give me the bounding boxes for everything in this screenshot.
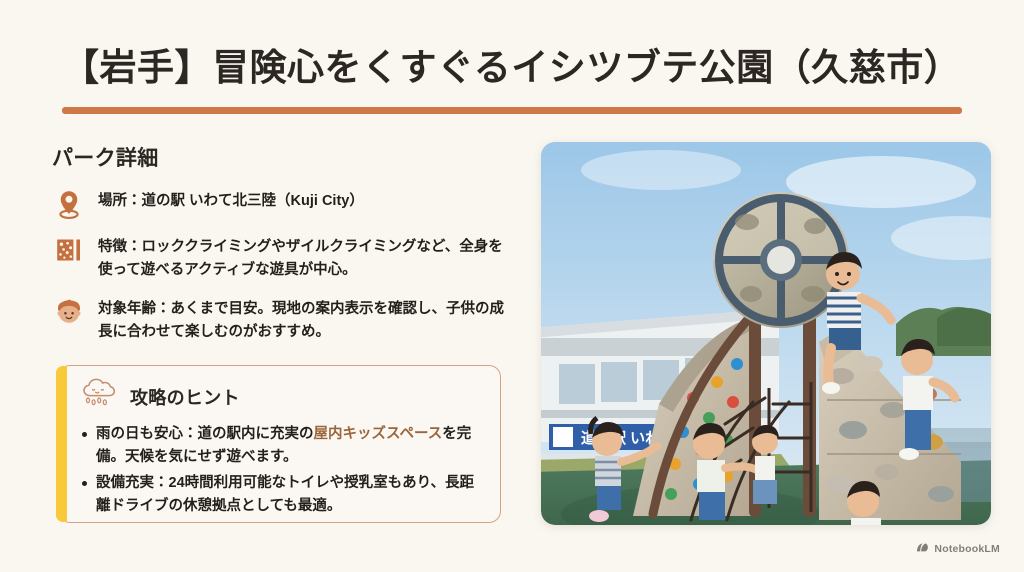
hint-list-item: 設備充実：24時間利用可能なトイレや授乳室もあり、長距離ドライブの休憩拠点として… [78,472,488,519]
section-heading-park-details: パーク詳細 [52,142,507,172]
hint-item-prefix: 雨の日も安心：道の駅内に充実の [96,426,314,442]
detail-row-target-age: 対象年齢：あくまで目安。現地の案内表示を確認し、子供の成長に合わせて楽しむのがお… [52,294,507,345]
page-title: 【岩手】冒険心をくすぐるイシツブテ公園（久慈市） [62,46,962,90]
park-photo: 道の駅 いわて北三陸 [541,142,991,525]
title-underline-rule [62,107,962,114]
rain-cloud-icon [78,374,120,419]
hint-item-highlight: 屋内キッズスペース [314,426,443,442]
detail-text-target-age: 対象年齢：あくまで目安。現地の案内表示を確認し、子供の成長に合わせて楽しむのがお… [98,294,507,345]
hint-list: 雨の日も安心：道の駅内に充実の屋内キッズスペースを完備。天候を気にせず遊べます。… [78,423,488,519]
hint-item-prefix: 設備充実：24時間利用可能なトイレや授乳室もあり、長距離ドライブの休憩拠点として… [96,475,474,514]
detail-text-location: 場所：道の駅 いわて北三陸（Kuji City） [98,186,364,213]
hint-header: 攻略のヒント [78,374,488,419]
detail-text-features: 特徴：ロッククライミングやザイルクライミングなど、全身を使って遊べるアクティブな… [98,232,507,283]
hint-title-text: 攻略のヒント [130,384,240,410]
park-photo-image: 道の駅 いわて北三陸 [541,142,991,525]
location-pin-icon [52,187,86,221]
climbing-wall-icon [52,233,86,267]
child-face-icon [52,295,86,329]
hint-accent-bar [56,366,67,522]
detail-row-location: 場所：道の駅 いわて北三陸（Kuji City） [52,186,507,221]
footer-brand-label: NotebookLM [934,543,1000,555]
page-title-text: 【岩手】冒険心をくすぐるイシツブテ公園（久慈市） [62,46,962,90]
hint-list-item: 雨の日も安心：道の駅内に充実の屋内キッズスペースを完備。天候を気にせず遊べます。 [78,423,488,470]
footer-watermark: NotebookLM [916,540,1000,558]
detail-row-features: 特徴：ロッククライミングやザイルクライミングなど、全身を使って遊べるアクティブな… [52,232,507,283]
hint-callout-box: 攻略のヒント 雨の日も安心：道の駅内に充実の屋内キッズスペースを完備。天候を気に… [58,365,501,523]
notebooklm-logo-icon [916,540,929,558]
park-details-section: パーク詳細 場所：道の駅 いわて北三陸（Kuji City） [52,142,507,356]
slide-root: 【岩手】冒険心をくすぐるイシツブテ公園（久慈市） パーク詳細 場所：道の駅 いわ… [0,0,1024,572]
